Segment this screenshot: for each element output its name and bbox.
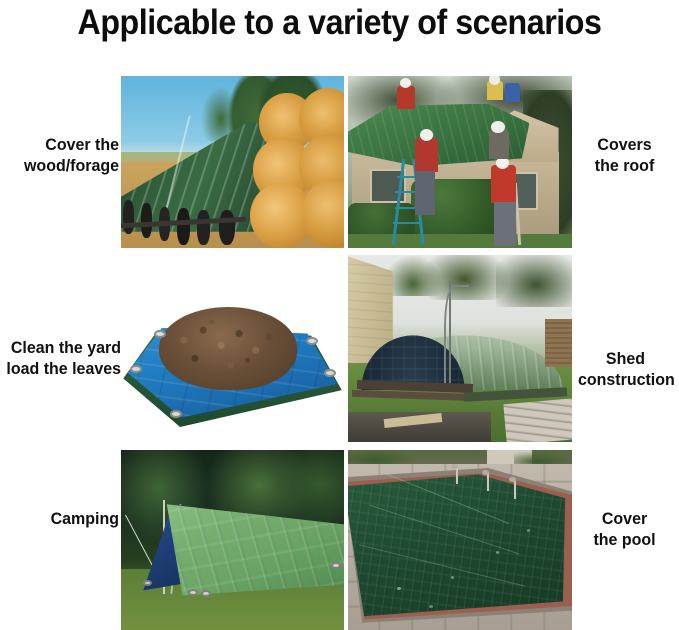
scene-image-hoop-shed [348,255,572,442]
scene-image-leaf-tarp [121,255,344,442]
scene-image-pool-cover [348,450,572,630]
label-shed-construction: Shed construction [578,348,673,390]
scenario-image-grid [121,76,572,630]
page-title: Applicable to a variety of scenarios [27,2,652,44]
label-camping: Camping [7,508,119,529]
scene-image-camp-tarp [121,450,344,630]
label-covers-roof: Covers the roof [578,134,671,176]
scene-image-roof-tarp [348,76,572,248]
scene-image-hay-bales [121,76,344,248]
label-cover-wood: Cover the wood/forage [7,134,119,176]
label-cover-pool: Cover the pool [578,508,671,550]
label-clean-yard: Clean the yard load the leaves [4,337,122,379]
